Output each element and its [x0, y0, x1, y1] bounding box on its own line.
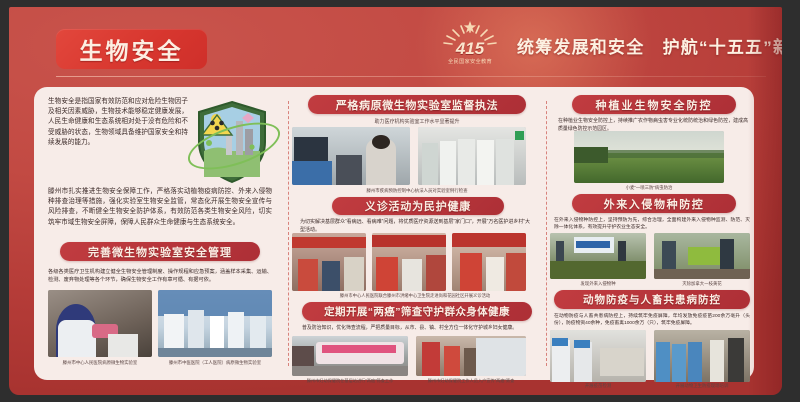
intro-paragraph-2: 滕州市扎实推进生物安全保障工作，严格落实动植物疫病防控、外来入侵物种排查治理等措… [48, 187, 272, 228]
photo-invasive-removal [654, 233, 750, 279]
section-heading-lab-enforcement: 严格病原微生物实验室监督执法 [308, 95, 526, 114]
photo-caption: 滕州市中心人民医院病原微生物实验室 [48, 360, 152, 366]
photo-lab-microbiology-1 [48, 290, 152, 357]
logo-number: 415 [437, 39, 503, 59]
photo-caption: 滕州市疾病预防控制中心执法人员对实验室例行检查 [308, 188, 526, 194]
photo-screening-bus [292, 336, 408, 376]
photo-caption: 开展疫苗检测 [550, 383, 646, 389]
photo-free-clinic-1 [292, 233, 366, 291]
column-divider-1 [288, 101, 289, 366]
logo-subtitle: 全民国家安全教育 [437, 58, 503, 65]
section-heading-free-clinic: 义诊活动为民护健康 [332, 197, 504, 215]
poster-title: 生物安全 [80, 32, 184, 66]
biohazard-shield-icon [192, 99, 272, 185]
photo-free-clinic-3 [452, 233, 526, 291]
screenshot-root: 生物安全 415 全民国家安全教育 统筹发展 [0, 0, 800, 402]
section-heading-lab-management: 完善微生物实验室安全管理 [60, 242, 260, 261]
photo-caption: 滕州市中心人民医院联合滕州市洪绪中心卫生院走进尚和花园社区开展义诊活动 [300, 293, 530, 299]
section-heading-crop-biosecurity: 种植业生物安全防控 [572, 95, 736, 114]
poster-board: 生物安全 415 全民国家安全教育 统筹发展 [9, 7, 782, 395]
photo-enforcement-2 [418, 127, 526, 185]
section-heading-cancer-screening: 定期开展“两癌”筛查守护群众身体健康 [302, 302, 532, 321]
column-divider-2 [546, 101, 547, 366]
photo-invasive-discovery [550, 233, 646, 279]
section-heading-invasive-species: 外来入侵物种防控 [572, 194, 736, 213]
section-heading-animal-epidemic: 动物防疫与人畜共患病防控 [554, 290, 750, 309]
content-panel: 生物安全是指国家有效防范和应对危险生物因子及相关因素威胁，生物技术能够稳定健康发… [34, 87, 754, 380]
photo-lab-microbiology-2 [158, 290, 272, 357]
photo-animal-training [654, 330, 750, 382]
lab-enforcement-text: 助力医疗机构实验室工作水平显著提升 [308, 118, 526, 125]
photo-caption: 开展动物卫生防疫现场培训 [654, 383, 750, 389]
lab-management-text: 各级各类医疗卫生机构建立健全生物安全管理制度、操作规程和应急预案，涵盖样本采集、… [48, 268, 272, 284]
invasive-species-text: 在外来入侵物种防控上，坚持预防为先，综合治理，全面构建外来入侵物种监测、防范、灭… [554, 217, 750, 232]
photo-vaccine-testing [550, 330, 646, 382]
animal-epidemic-text: 在动物防疫与人畜共患病防控上，持续筑牢免疫屏障，年均发放免疫疫苗200余万毫升（… [554, 313, 750, 328]
photo-caption: 滕州市中医医院（工人医院）病原微生物实验室 [158, 360, 272, 366]
poster-title-badge: 生物安全 [56, 29, 207, 69]
photo-caption: 灭除加拿大一枝黄花 [654, 281, 750, 287]
right-column: 种植业生物安全防控 在种植业生物安全防控上，持续推广农作物病虫害专业化统防统治和… [550, 87, 754, 380]
photo-enforcement-1 [292, 127, 410, 185]
header-slogan: 统筹发展和安全 护航“十五五”新征程 [517, 33, 782, 58]
header-divider-line [56, 76, 766, 77]
photo-free-clinic-2 [372, 233, 446, 291]
photo-caption: 滕州市妇幼保健院在基层站进行“两癌”筛查工作 [292, 378, 408, 384]
cancer-screening-text: 普及防治知识，优化筛查流程，严把质量目标，从市、县、镇、村全方位一体化守护城乡妇… [302, 325, 532, 333]
photo-caption: 滕州市妇幼保健院工作人员入户宣传“两癌”筛查 [416, 378, 526, 384]
photo-caption: 小麦“一喷三防”病虫防治 [574, 185, 724, 191]
photo-wheat-field [574, 131, 724, 183]
photo-caption: 发现外来入侵物种 [550, 281, 646, 287]
left-column: 生物安全是指国家有效防范和应对危险生物因子及相关因素威胁，生物技术能够稳定健康发… [34, 87, 286, 380]
national-security-education-day-logo: 415 全民国家安全教育 [437, 21, 503, 71]
middle-column: 严格病原微生物实验室监督执法 助力医疗机构实验室工作水平显著提升 [292, 87, 544, 380]
photo-screening-visit [416, 336, 526, 376]
intro-paragraph-1: 生物安全是指国家有效防范和应对危险生物因子及相关因素威胁，生物技术能够稳定健康发… [48, 97, 188, 148]
